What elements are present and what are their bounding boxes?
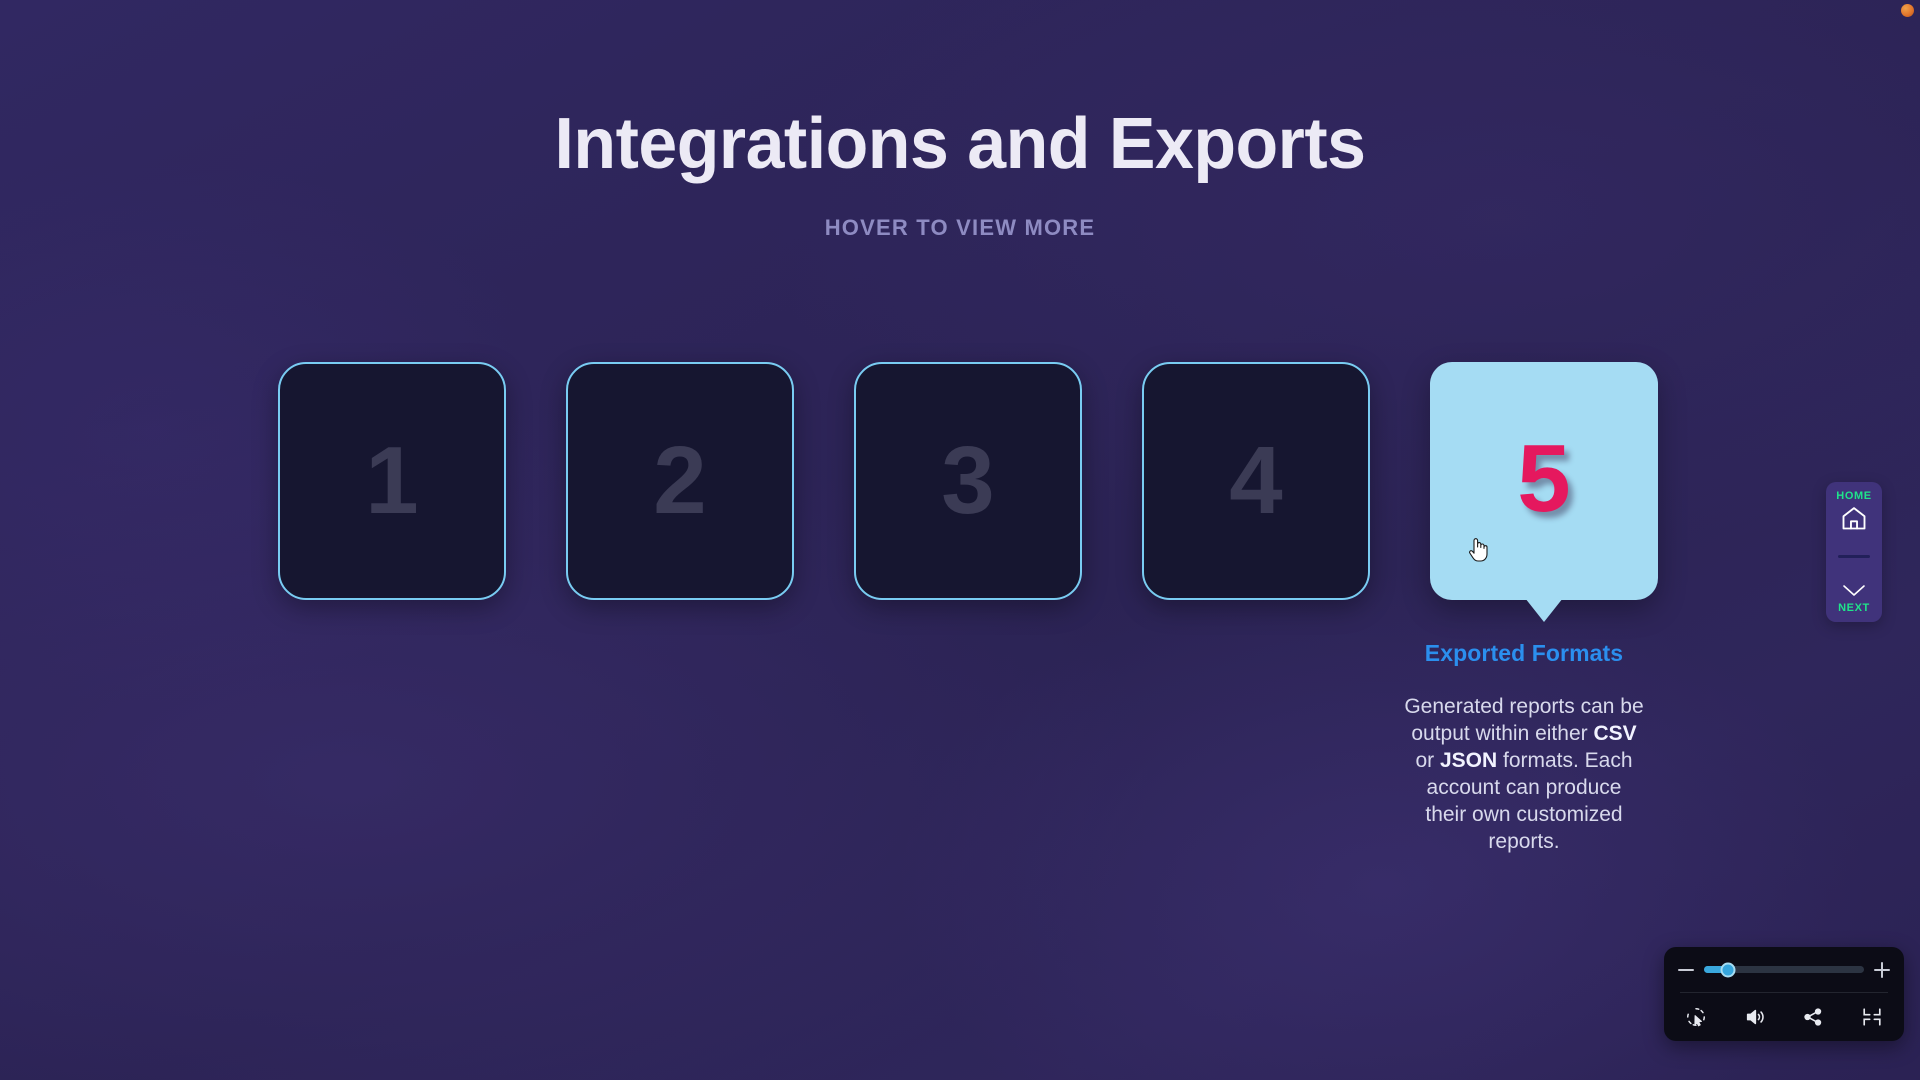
next-nav-button[interactable]: NEXT [1838,581,1870,614]
bottom-toolbar [1664,947,1904,1041]
detail-body-bold-json: JSON [1440,749,1497,772]
recording-indicator-dot [1901,4,1914,17]
page-subtitle: HOVER TO VIEW MORE [0,215,1920,241]
presentation-stage: Integrations and Exports HOVER TO VIEW M… [0,0,1920,1080]
share-icon[interactable] [1799,1003,1827,1031]
cards-row: 1 2 3 4 5 [278,362,1648,600]
card-5-active[interactable]: 5 [1430,362,1658,600]
detail-body-bold-csv: CSV [1593,722,1636,745]
card-3[interactable]: 3 [854,362,1082,600]
card-1[interactable]: 1 [278,362,506,600]
home-label: HOME [1836,490,1871,502]
home-nav-button[interactable]: HOME [1836,490,1871,531]
zoom-in-button[interactable] [1874,962,1890,978]
card-number-4: 4 [1229,433,1282,529]
card-number-2: 2 [653,433,706,529]
zoom-slider-thumb[interactable] [1721,962,1736,977]
page-title: Integrations and Exports [29,108,1891,180]
nav-divider [1838,555,1870,558]
collapse-icon[interactable] [1858,1003,1886,1031]
detail-body: Generated reports can be output within e… [1404,693,1644,855]
side-navigation-widget: HOME NEXT [1826,482,1882,622]
chevron-down-icon [1840,581,1868,599]
bubble-tail [1525,598,1563,622]
zoom-out-button[interactable] [1678,962,1694,978]
detail-body-mid: or [1415,749,1440,772]
zoom-control-row [1678,948,1890,992]
home-icon [1840,505,1868,531]
card-2[interactable]: 2 [566,362,794,600]
pointer-highlight-icon[interactable] [1682,1003,1710,1031]
detail-title: Exported Formats [1404,640,1644,667]
card-number-1: 1 [365,433,418,529]
zoom-slider[interactable] [1704,966,1864,973]
toolbar-icon-row [1678,993,1890,1041]
card-number-3: 3 [941,433,994,529]
detail-panel: Exported Formats Generated reports can b… [1404,640,1644,855]
card-4[interactable]: 4 [1142,362,1370,600]
card-number-5: 5 [1517,431,1570,527]
next-label: NEXT [1838,602,1870,614]
volume-icon[interactable] [1741,1003,1769,1031]
